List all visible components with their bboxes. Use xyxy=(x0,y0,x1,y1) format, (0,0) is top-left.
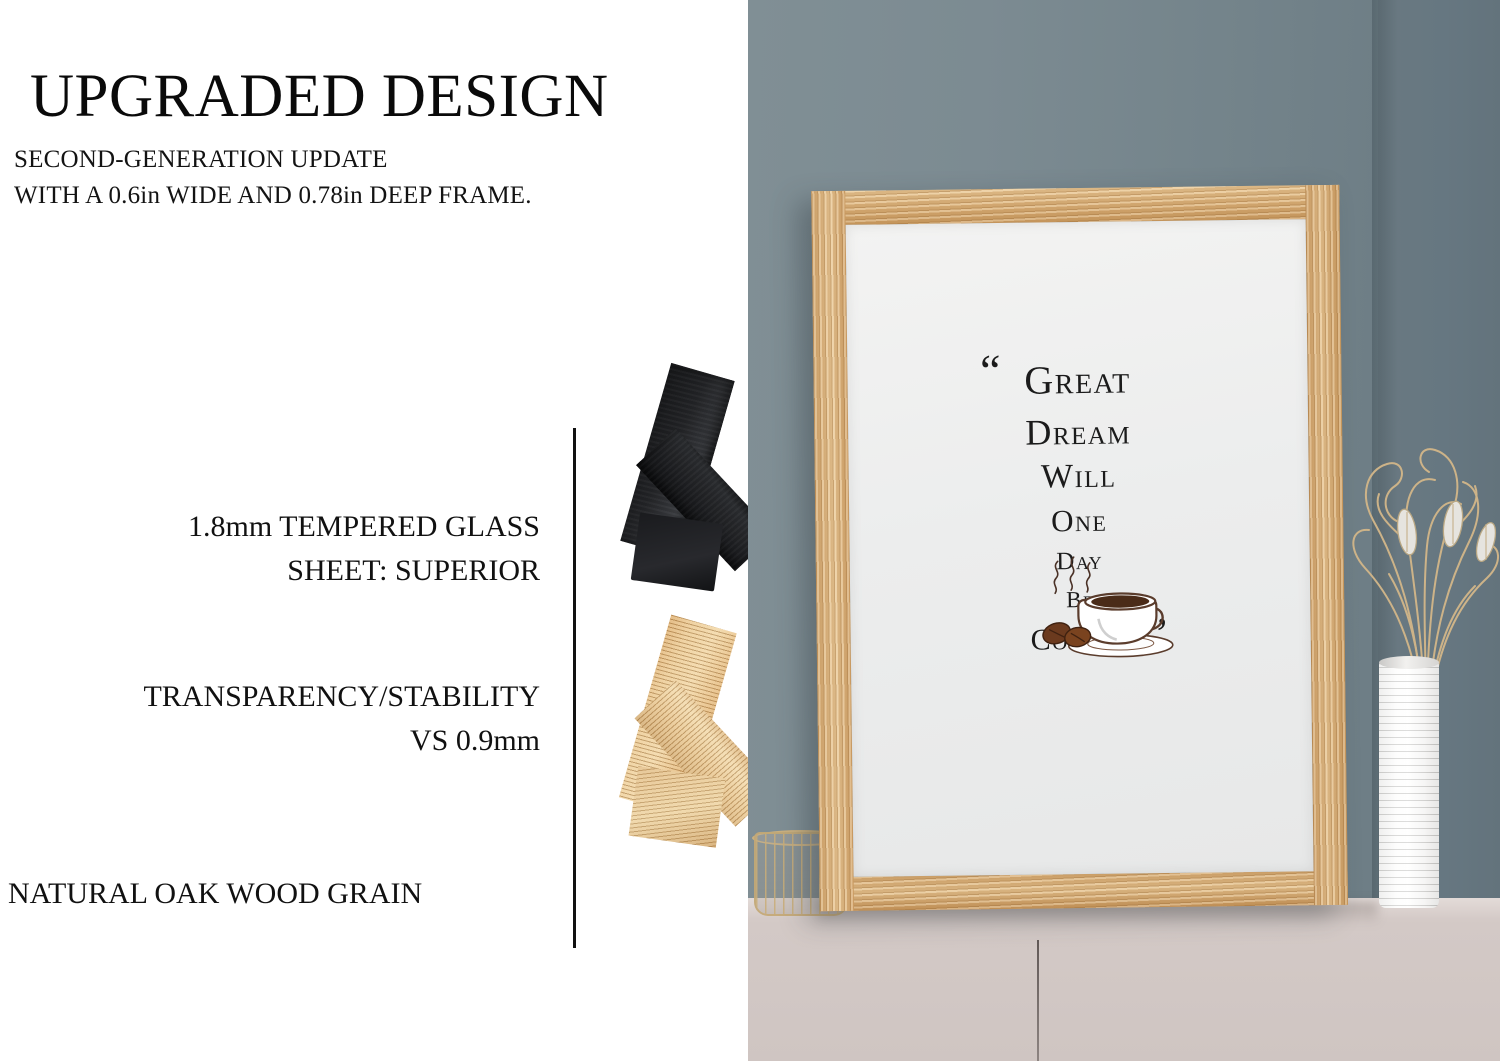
feature-tempered-glass: 1.8mm TEMPERED GLASS SHEET: SUPERIOR xyxy=(0,505,540,592)
feature-transparency-stability: TRANSPARENCY/STABILITY VS 0.9mm xyxy=(0,675,540,762)
vase-body xyxy=(1379,660,1439,908)
poster-line-great: “ Great xyxy=(1024,359,1131,400)
poster-artwork: “ Great Dream Will One Day Be Coming ” xyxy=(846,219,1314,877)
feature-oak-wood-grain: NATURAL OAK WOOD GRAIN xyxy=(0,872,553,916)
product-marketing-image: UPGRADED DESIGN SECOND-GENERATION UPDATE… xyxy=(0,0,1500,1061)
poster-line-one: One xyxy=(1051,505,1108,537)
cabinet-door-seam xyxy=(1037,940,1039,1061)
poster-line-great-text: Great xyxy=(1024,356,1131,402)
feature-tempered-glass-line-2: SHEET: SUPERIOR xyxy=(0,549,540,593)
subtitle-line-1: SECOND-GENERATION UPDATE xyxy=(14,146,388,174)
oak-picture-frame: “ Great Dream Will One Day Be Coming ” xyxy=(811,185,1348,911)
lifestyle-photo: “ Great Dream Will One Day Be Coming ” xyxy=(748,0,1500,1061)
frame-rail-bottom xyxy=(820,871,1348,911)
coffee-cup-icon xyxy=(980,546,1181,668)
poster-line-will: Will xyxy=(1041,460,1117,495)
feature-tempered-glass-line-1: 1.8mm TEMPERED GLASS xyxy=(0,505,540,549)
feature-oak-line-1: NATURAL OAK WOOD GRAIN xyxy=(8,872,553,916)
page-title: UPGRADED DESIGN xyxy=(30,66,609,127)
feature-transparency-line-2: VS 0.9mm xyxy=(0,719,540,763)
open-quote-mark: “ xyxy=(980,348,1002,394)
poster-line-dream: Dream xyxy=(1025,413,1131,450)
info-panel: UPGRADED DESIGN SECOND-GENERATION UPDATE… xyxy=(0,0,748,1061)
black-sample-joint xyxy=(631,512,724,591)
feature-transparency-line-1: TRANSPARENCY/STABILITY xyxy=(0,675,540,719)
decorative-vase xyxy=(1373,660,1445,908)
subtitle-line-2: WITH A 0.6in WIDE AND 0.78in DEEP FRAME. xyxy=(14,182,532,210)
vase-mouth xyxy=(1379,656,1439,669)
dried-branches xyxy=(1303,390,1500,690)
oak-sample-joint xyxy=(629,766,726,848)
